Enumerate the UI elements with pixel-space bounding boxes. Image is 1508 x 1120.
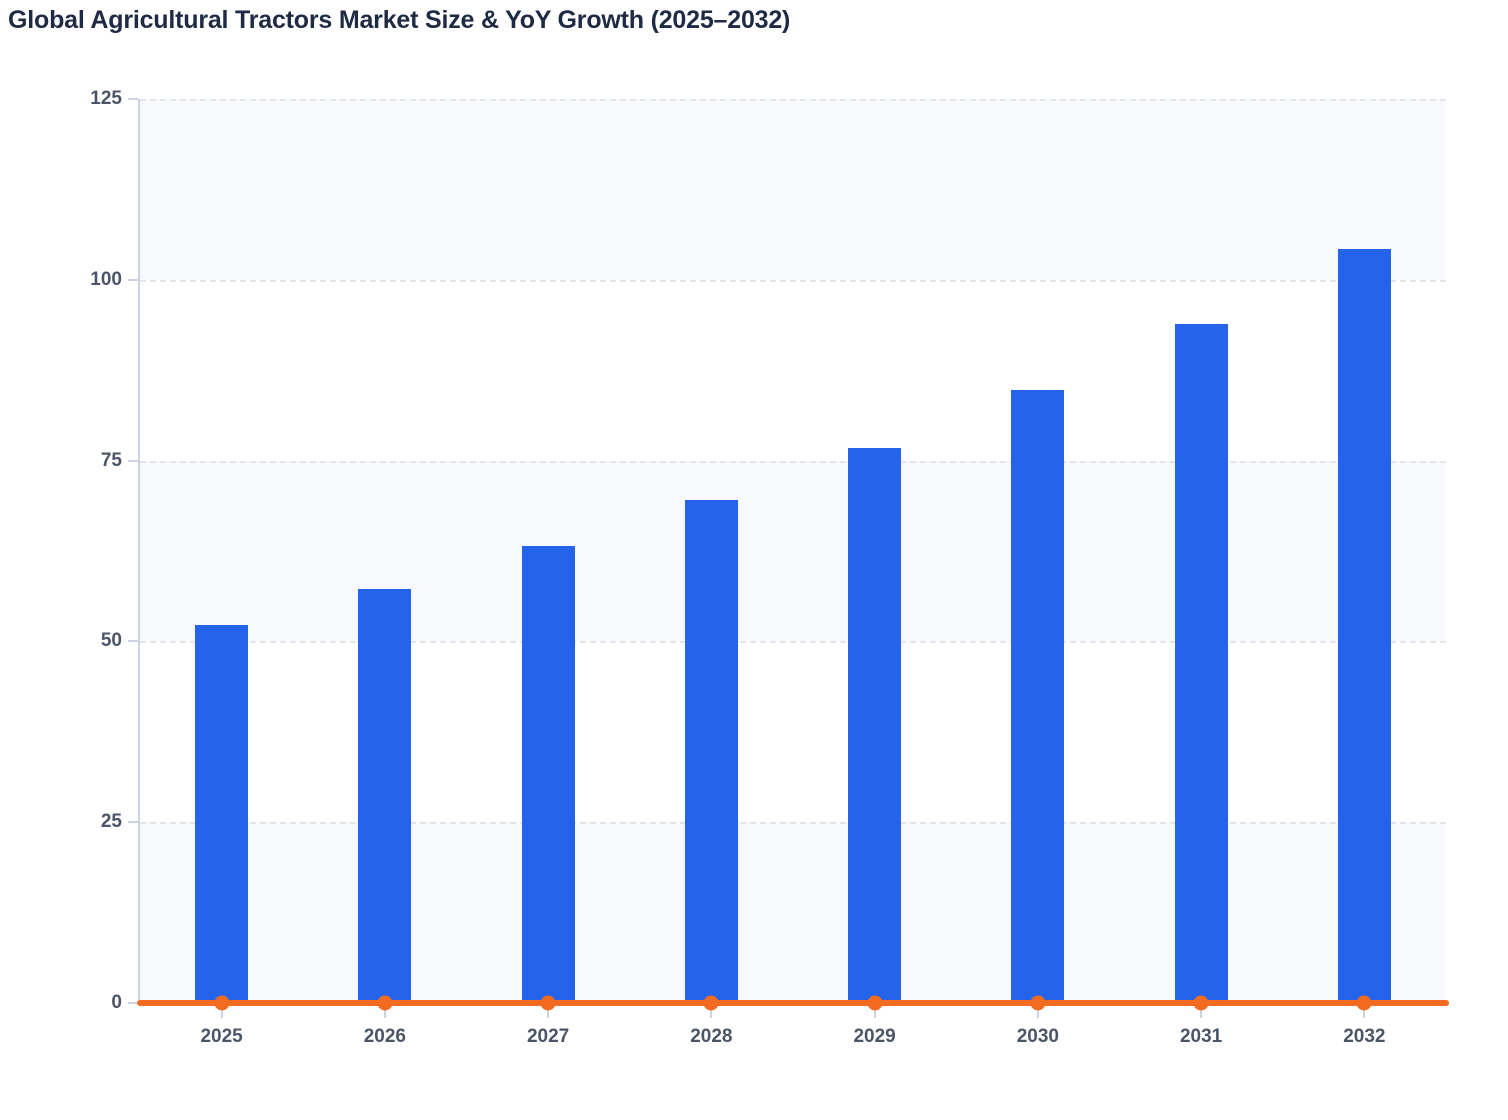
- plot-band: [140, 822, 1446, 1003]
- y-tick-mark: [128, 98, 138, 100]
- x-tick-label: 2032: [1294, 1026, 1434, 1048]
- x-tick-label: 2028: [641, 1026, 781, 1048]
- y-tick-label: 0: [42, 992, 122, 1014]
- plot-band: [140, 99, 1446, 280]
- bar[interactable]: [1175, 324, 1228, 1003]
- data-point-marker[interactable]: [377, 996, 392, 1011]
- bar[interactable]: [195, 625, 248, 1003]
- bar[interactable]: [848, 448, 901, 1003]
- bar[interactable]: [358, 589, 411, 1003]
- y-tick-label: 25: [42, 811, 122, 833]
- data-point-marker[interactable]: [704, 996, 719, 1011]
- y-tick-label: 125: [42, 88, 122, 110]
- y-tick-mark: [128, 821, 138, 823]
- x-tick-label: 2031: [1131, 1026, 1271, 1048]
- data-point-marker[interactable]: [541, 996, 556, 1011]
- y-tick-mark: [128, 1002, 138, 1004]
- data-point-marker[interactable]: [1194, 996, 1209, 1011]
- bar[interactable]: [522, 546, 575, 1003]
- x-axis-spine: [138, 1003, 1446, 1005]
- y-tick-mark: [128, 640, 138, 642]
- gridline: [140, 822, 1446, 824]
- data-point-marker[interactable]: [1030, 996, 1045, 1011]
- x-tick-label: 2029: [805, 1026, 945, 1048]
- plot-band: [140, 461, 1446, 642]
- plot-band: [140, 280, 1446, 461]
- y-tick-label: 50: [42, 630, 122, 652]
- x-tick-label: 2025: [152, 1026, 292, 1048]
- gridline: [140, 280, 1446, 282]
- y-axis-spine: [138, 99, 140, 1003]
- data-point-marker[interactable]: [1357, 996, 1372, 1011]
- y-tick-label: 100: [42, 269, 122, 291]
- bar[interactable]: [685, 500, 738, 1003]
- x-tick-label: 2026: [315, 1026, 455, 1048]
- data-point-marker[interactable]: [214, 996, 229, 1011]
- gridline: [140, 99, 1446, 101]
- x-tick-label: 2030: [968, 1026, 1108, 1048]
- bar[interactable]: [1011, 390, 1064, 1003]
- data-point-marker[interactable]: [867, 996, 882, 1011]
- plot-band: [140, 641, 1446, 822]
- y-tick-mark: [128, 279, 138, 281]
- gridline: [140, 641, 1446, 643]
- chart-container: Global Agricultural Tractors Market Size…: [0, 0, 1508, 1120]
- gridline: [140, 461, 1446, 463]
- y-tick-label: 75: [42, 450, 122, 472]
- plot-area: [140, 99, 1446, 1003]
- y-tick-mark: [128, 460, 138, 462]
- bar[interactable]: [1338, 249, 1391, 1003]
- x-tick-label: 2027: [478, 1026, 618, 1048]
- page-title: Global Agricultural Tractors Market Size…: [8, 6, 790, 35]
